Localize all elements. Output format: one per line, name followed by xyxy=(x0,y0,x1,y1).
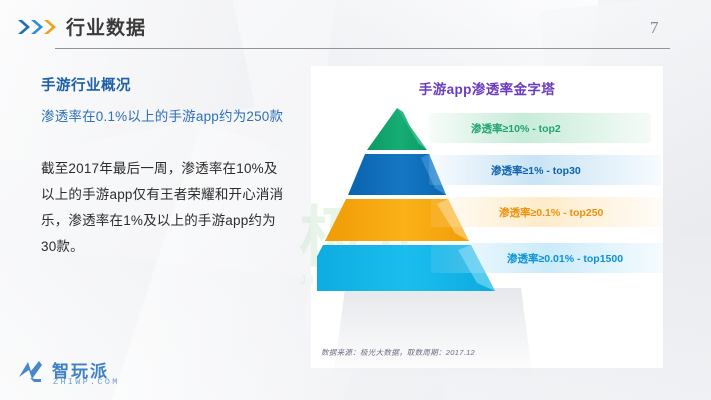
page-title: 行业数据 xyxy=(66,13,146,40)
header-divider xyxy=(55,48,670,49)
page-number: 7 xyxy=(650,18,659,38)
left-text-column: 手游行业概况 渗透率在0.1%以上的手游app约为250款 截至2017年最后一… xyxy=(41,74,291,260)
pyramid-shadow xyxy=(333,288,533,380)
chart-source-note: 数据来源：极光大数据，取数周期：2017.12 xyxy=(321,347,475,358)
brand-logo: 智玩派 ZHIWP.COM xyxy=(17,357,147,391)
pyramid-legend-tier-0[interactable]: 渗透率≥10% - top2 xyxy=(429,113,651,143)
logo-mark-icon xyxy=(17,359,47,385)
pyramid-legend-label-0: 渗透率≥10% - top2 xyxy=(471,121,561,136)
chart-card: 手游app渗透率金字塔 极光 JIGUANG DATA xyxy=(311,66,663,368)
pyramid-legend-tier-3[interactable]: 渗透率≥0.01% - top1500 xyxy=(431,243,663,273)
section-subheading: 手游行业概况 xyxy=(41,74,291,95)
pyramid-legend-tier-2[interactable]: 渗透率≥0.1% - top250 xyxy=(431,197,663,227)
chevron-triple-icon xyxy=(17,19,61,35)
pyramid-legend-label-3: 渗透率≥0.01% - top1500 xyxy=(507,251,623,266)
summary-paragraph: 渗透率在0.1%以上的手游app约为250款 xyxy=(41,104,291,129)
pyramid-legend-label-2: 渗透率≥0.1% - top250 xyxy=(499,205,603,220)
body-paragraph: 截至2017年最后一周，渗透率在10%及以上的手游app仅有王者荣耀和开心消消乐… xyxy=(41,156,291,260)
pyramid-tier-0[interactable] xyxy=(367,108,427,150)
pyramid-legend-label-1: 渗透率≥1% - top30 xyxy=(491,163,581,178)
slide-canvas: 行业数据 7 手游行业概况 渗透率在0.1%以上的手游app约为250款 截至2… xyxy=(0,0,711,400)
logo-text-en: ZHIWP.COM xyxy=(53,377,120,387)
pyramid-legend-tier-1[interactable]: 渗透率≥1% - top30 xyxy=(429,155,661,185)
slide-header: 行业数据 7 xyxy=(0,0,711,52)
chart-title: 手游app渗透率金字塔 xyxy=(311,78,663,98)
